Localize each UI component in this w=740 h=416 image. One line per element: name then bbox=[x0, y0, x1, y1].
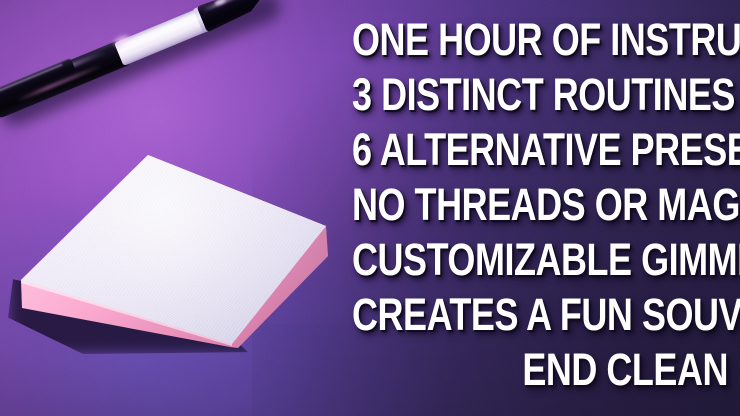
feature-line-6: CREATES A FUN SOUVENIR bbox=[352, 287, 728, 342]
feature-line-7: END CLEAN bbox=[352, 342, 728, 397]
promo-image-canvas: ONE HOUR OF INSTRUCTION 3 DISTINCT ROUTI… bbox=[0, 0, 740, 416]
feature-list: ONE HOUR OF INSTRUCTION 3 DISTINCT ROUTI… bbox=[258, 12, 728, 397]
feature-line-3: 6 ALTERNATIVE PRESENTATIONS bbox=[352, 122, 728, 177]
feature-line-4: NO THREADS OR MAGNETS bbox=[352, 177, 728, 232]
feature-line-1: ONE HOUR OF INSTRUCTION bbox=[352, 12, 728, 67]
feature-line-5: CUSTOMIZABLE GIMMICKS bbox=[352, 232, 728, 287]
feature-line-2: 3 DISTINCT ROUTINES bbox=[352, 67, 728, 122]
